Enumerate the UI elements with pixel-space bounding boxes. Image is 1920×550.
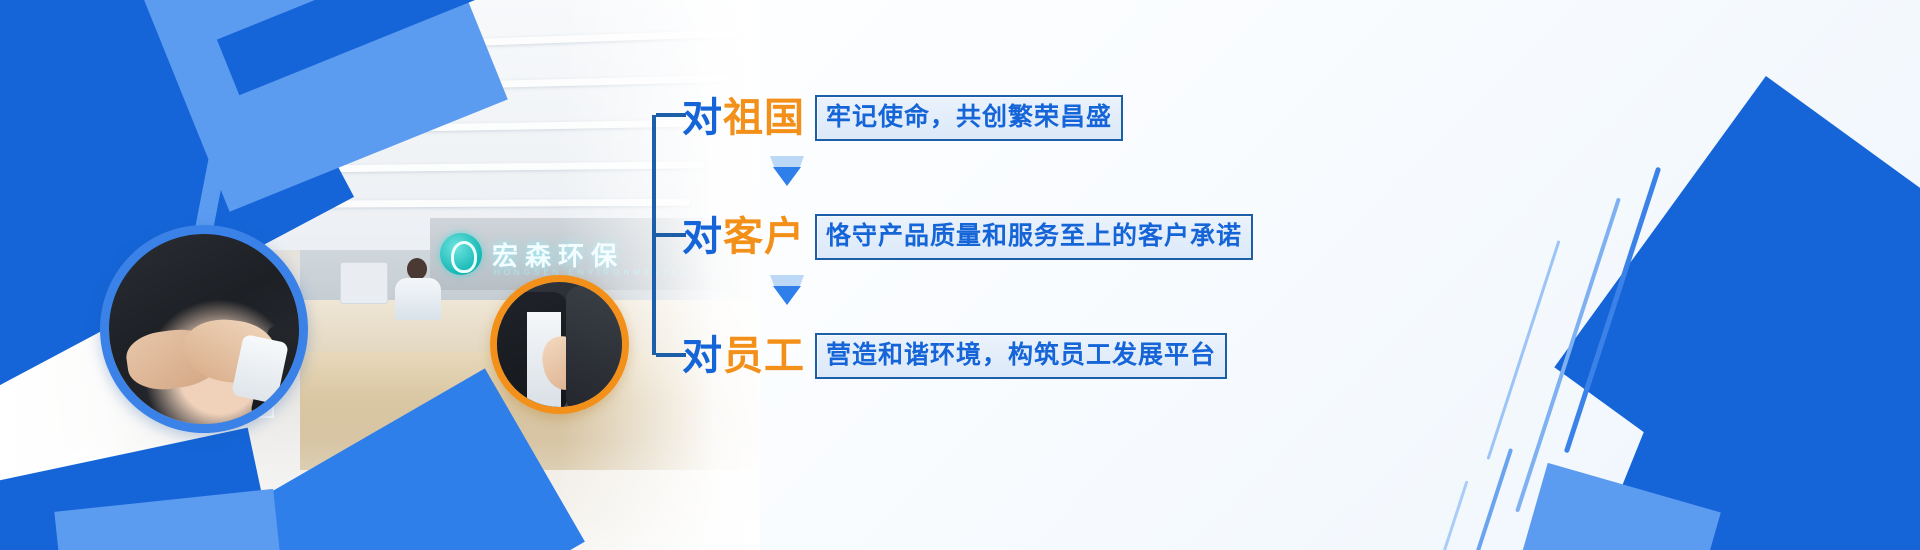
- values-row-employee: 对员工 营造和谐环境，构筑员工发展平台: [682, 328, 1227, 384]
- receptionist-head: [407, 258, 427, 280]
- values-prefix: 对: [682, 334, 723, 378]
- bracket-right-icon: [652, 115, 686, 355]
- values-statement-employee: 营造和谐环境，构筑员工发展平台: [815, 333, 1227, 379]
- values-row-customer: 对客户 恪守产品质量和服务至上的客户承诺: [682, 209, 1253, 265]
- decor-slash-line: [1463, 448, 1513, 550]
- values-lead-customer: 对客户: [682, 217, 805, 257]
- decor-slash-line: [1487, 240, 1561, 460]
- company-values-banner: 宏森环保 HONGSEN ENVIRONMENTAL PROTECTION: [0, 0, 1920, 550]
- receptionist: [395, 258, 441, 320]
- decor-slash-line: [1429, 480, 1469, 550]
- values-target: 员工: [723, 334, 805, 378]
- suit-right: [566, 286, 629, 412]
- values-prefix: 对: [682, 96, 723, 140]
- values-statement-customer: 恪守产品质量和服务至上的客户承诺: [815, 214, 1253, 260]
- values-target: 客户: [723, 215, 805, 259]
- values-lead-employee: 对员工: [682, 336, 805, 376]
- handshake-circle-photo: [100, 225, 308, 433]
- values-statement-country: 牢记使命，共创繁荣昌盛: [815, 95, 1123, 141]
- values-target: 祖国: [723, 96, 805, 140]
- values-diagram: 对祖国 牢记使命，共创繁荣昌盛 对客户 恪守产品质量和服务至上的客户承诺 对员工…: [652, 84, 1392, 384]
- desk-monitor: [340, 262, 388, 304]
- applause-scene: [497, 282, 622, 407]
- values-row-country: 对祖国 牢记使命，共创繁荣昌盛: [682, 90, 1123, 146]
- values-prefix: 对: [682, 215, 723, 259]
- triangle-down-icon: [770, 156, 804, 186]
- applause-circle-photo: [490, 275, 629, 414]
- company-logo-icon: [440, 233, 482, 275]
- handshake-scene: [109, 234, 299, 424]
- triangle-down-icon: [770, 275, 804, 305]
- receptionist-body: [395, 278, 441, 320]
- values-lead-country: 对祖国: [682, 98, 805, 138]
